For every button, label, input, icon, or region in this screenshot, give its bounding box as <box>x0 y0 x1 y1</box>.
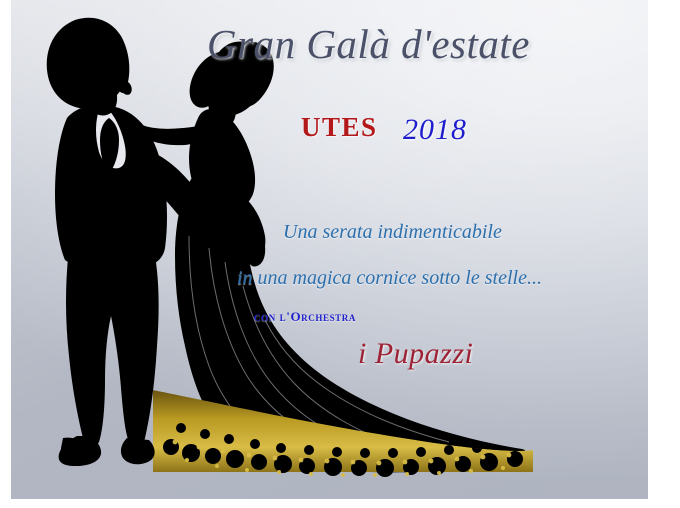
event-year: 2018 <box>403 113 467 147</box>
tagline-line-1: Una serata indimenticabile <box>283 221 502 244</box>
dancing-couple-silhouette <box>11 0 533 499</box>
tagline-line-2: in una magica cornice sotto le stelle... <box>237 267 542 290</box>
poster-canvas: Gran Galà d'estate UTES 2018 Una serata … <box>11 0 648 499</box>
band-name: i Pupazzi <box>358 337 473 371</box>
poster-image: Gran Galà d'estate UTES 2018 Una serata … <box>0 0 680 508</box>
event-code: UTES <box>301 112 378 143</box>
orchestra-label: con l'Orchestra <box>254 309 356 325</box>
page-title: Gran Galà d'estate <box>207 20 530 68</box>
